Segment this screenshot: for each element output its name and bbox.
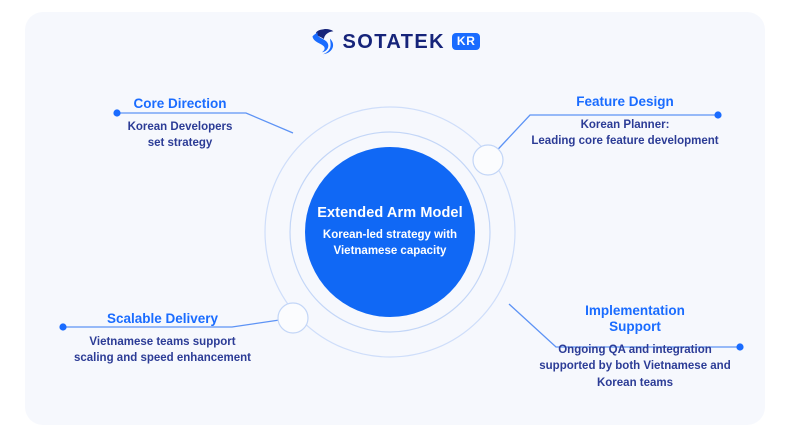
diagram-canvas: SOTATEK KR Extended Arm Model Korean-led…: [0, 0, 790, 444]
center-subtitle-line-2: Vietnamese capacity: [305, 244, 475, 260]
callout-core-direction-body-line-2: set strategy: [100, 135, 260, 151]
callout-implementation-support-title-line-2: Support: [520, 319, 750, 335]
callout-implementation-support-body-line-2: supported by both Vietnamese and: [520, 358, 750, 374]
callout-scalable-delivery[interactable]: Scalable Delivery Vietnamese teams suppo…: [55, 311, 270, 367]
callout-implementation-support-title-line-1: Implementation: [520, 303, 750, 319]
callout-scalable-delivery-title: Scalable Delivery: [55, 311, 270, 327]
callout-core-direction-body-line-1: Korean Developers: [100, 119, 260, 135]
callout-implementation-support[interactable]: Implementation Support Ongoing QA and in…: [520, 303, 750, 391]
callout-scalable-delivery-body-line-2: scaling and speed enhancement: [55, 350, 270, 366]
callout-core-direction-title: Core Direction: [100, 96, 260, 112]
center-hub-label: Extended Arm Model Korean-led strategy w…: [305, 205, 475, 260]
center-title: Extended Arm Model: [305, 205, 475, 221]
callout-core-direction-body: Korean Developers set strategy: [100, 119, 260, 152]
callout-implementation-support-body-line-1: Ongoing QA and integration: [520, 342, 750, 358]
node-top-right-icon[interactable]: [473, 145, 503, 175]
center-subtitle-line-1: Korean-led strategy with: [305, 228, 475, 244]
callout-feature-design-body-line-1: Korean Planner:: [505, 117, 745, 133]
callout-scalable-delivery-body: Vietnamese teams support scaling and spe…: [55, 334, 270, 367]
callout-feature-design-body: Korean Planner: Leading core feature dev…: [505, 117, 745, 150]
callout-implementation-support-body-line-3: Korean teams: [520, 375, 750, 391]
callout-feature-design[interactable]: Feature Design Korean Planner: Leading c…: [505, 94, 745, 150]
callout-scalable-delivery-body-line-1: Vietnamese teams support: [55, 334, 270, 350]
callout-feature-design-title: Feature Design: [505, 94, 745, 110]
callout-implementation-support-body: Ongoing QA and integration supported by …: [520, 342, 750, 391]
node-bottom-left-icon[interactable]: [278, 303, 308, 333]
callout-feature-design-body-line-2: Leading core feature development: [505, 133, 745, 149]
callout-core-direction[interactable]: Core Direction Korean Developers set str…: [100, 96, 260, 152]
center-subtitle: Korean-led strategy with Vietnamese capa…: [305, 228, 475, 260]
callout-implementation-support-title: Implementation Support: [520, 303, 750, 335]
